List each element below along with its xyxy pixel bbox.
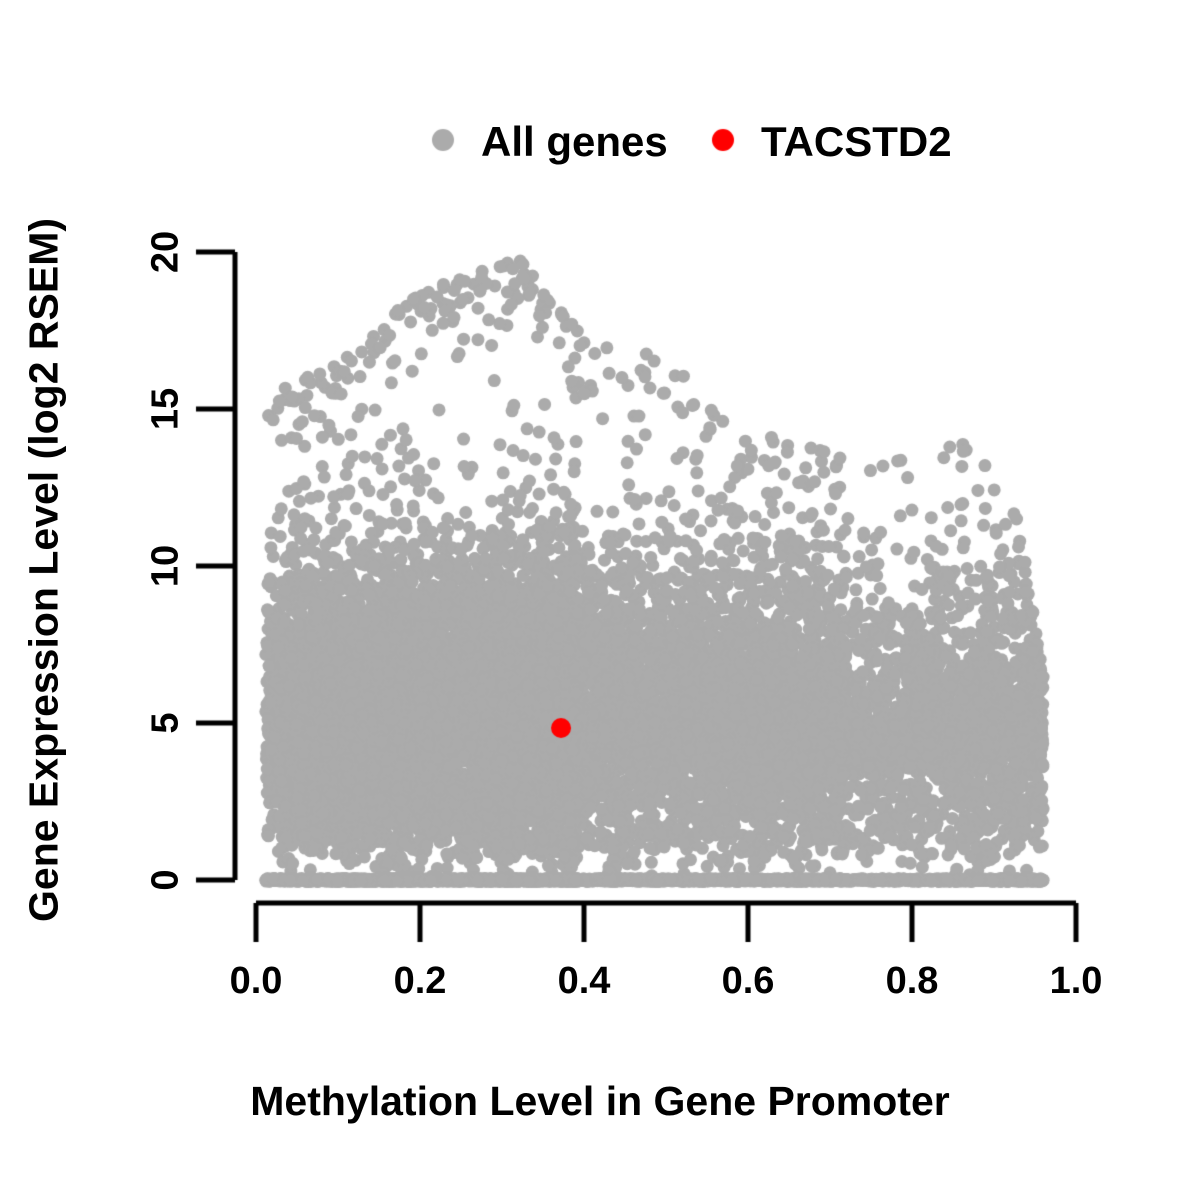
- x-axis-title: Methylation Level in Gene Promoter: [250, 1078, 949, 1125]
- x-tick-label: 0.6: [722, 960, 775, 1003]
- y-tick-label: 5: [145, 712, 188, 733]
- y-tick-label: 20: [145, 231, 188, 273]
- x-tick-label: 0.8: [886, 960, 939, 1003]
- legend-label-tacstd2: TACSTD2: [761, 118, 952, 166]
- scatter-plot-figure: All genes TACSTD2 Methylation Level in G…: [0, 0, 1200, 1200]
- scatter-plot-canvas: [0, 0, 1200, 1200]
- x-tick-label: 1.0: [1050, 960, 1103, 1003]
- y-tick-label: 15: [145, 388, 188, 430]
- legend-label-all-genes: All genes: [481, 118, 668, 166]
- y-tick-label: 10: [145, 545, 188, 587]
- x-tick-label: 0.4: [558, 960, 611, 1003]
- y-tick-label: 0: [145, 869, 188, 890]
- y-axis-title: Gene Expression Level (log2 RSEM): [21, 218, 68, 922]
- x-tick-label: 0.0: [230, 960, 283, 1003]
- x-tick-label: 0.2: [394, 960, 447, 1003]
